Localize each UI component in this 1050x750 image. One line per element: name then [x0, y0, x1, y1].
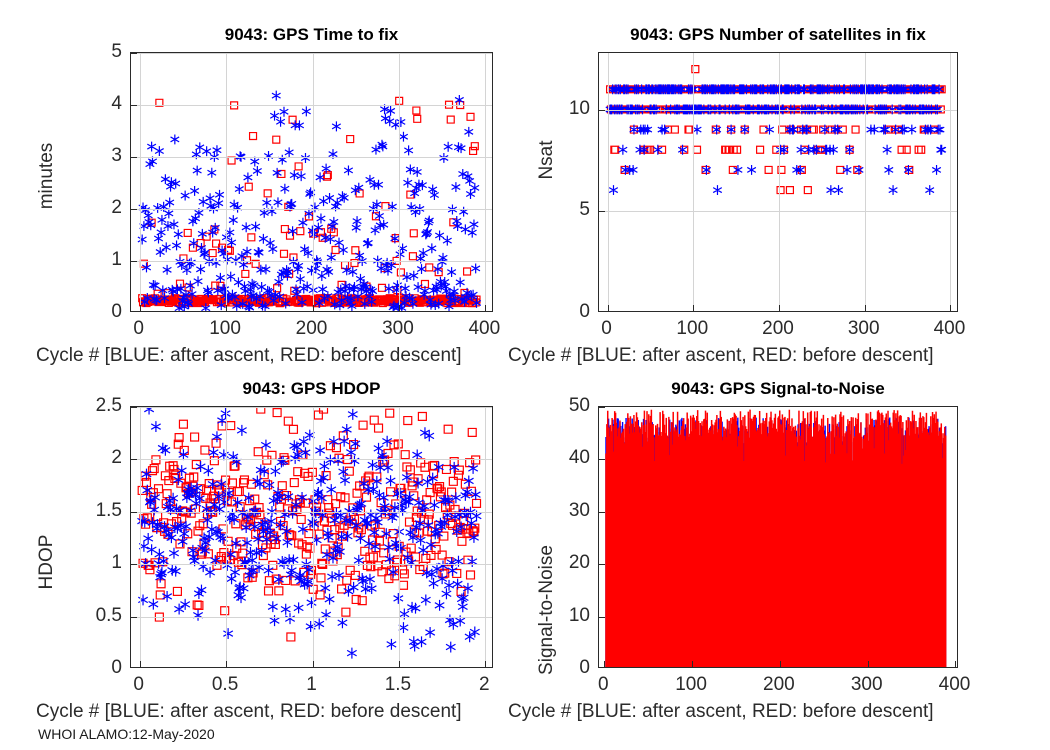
y-tick-label: 2	[62, 197, 122, 219]
x-tick-label: 0.5	[212, 674, 238, 696]
gridline-horizontal	[131, 105, 492, 106]
x-tick-label: 300	[848, 318, 880, 340]
y-tick	[599, 110, 605, 111]
y-tick-label: 0.5	[62, 605, 122, 627]
gridline-vertical	[140, 53, 141, 311]
y-tick-label: 40	[530, 447, 590, 469]
y-tick-label: 1	[62, 249, 122, 271]
y-tick	[131, 209, 137, 210]
x-tick-label: 100	[209, 318, 241, 340]
y-tick-label: 30	[530, 500, 590, 522]
y-tick	[131, 53, 137, 54]
x-tick	[779, 305, 780, 311]
y-tick-label: 4	[62, 93, 122, 115]
plot-title-time-to-fix: 9043: GPS Time to fix	[130, 25, 493, 45]
y-tick	[131, 105, 137, 106]
x-tick	[780, 661, 781, 667]
x-tick	[226, 305, 227, 311]
y-tick	[131, 261, 137, 262]
subplot-hdop: 9043: GPS HDOP 00.511.5200.511.522.5	[130, 406, 493, 668]
y-tick	[131, 617, 137, 618]
y-tick-label: 50	[530, 395, 590, 417]
x-tick-label: 100	[675, 674, 707, 696]
gridline-vertical	[485, 407, 486, 667]
y-tick-label: 10	[530, 98, 590, 120]
y-tick-label: 3	[62, 145, 122, 167]
xlabel-hdop: Cycle # [BLUE: after ascent, RED: before…	[36, 701, 462, 723]
y-tick-label: 2.5	[62, 395, 122, 417]
gridline-horizontal	[599, 211, 957, 212]
axes-time-to-fix	[130, 52, 493, 312]
gridline-horizontal	[131, 261, 492, 262]
gridline-horizontal	[131, 407, 492, 408]
x-tick-label: 2	[479, 674, 490, 696]
data-layer-hdop	[131, 407, 492, 667]
y-tick-label: 1.5	[62, 500, 122, 522]
x-tick	[868, 661, 869, 667]
y-tick-label: 0	[62, 301, 122, 323]
y-tick	[599, 407, 605, 408]
y-tick-label: 5	[62, 41, 122, 63]
gridline-horizontal	[131, 617, 492, 618]
y-tick	[599, 459, 605, 460]
xlabel-time-to-fix: Cycle # [BLUE: after ascent, RED: before…	[36, 345, 462, 367]
ylabel-minutes: minutes	[36, 143, 58, 210]
x-tick-label: 1.5	[385, 674, 411, 696]
y-tick-label: 0	[62, 657, 122, 679]
gridline-horizontal	[131, 157, 492, 158]
x-tick	[955, 661, 956, 667]
x-tick	[693, 305, 694, 311]
xlabel-snr: Cycle # [BLUE: after ascent, RED: before…	[508, 701, 934, 723]
gridline-horizontal	[599, 110, 957, 111]
gridline-vertical	[313, 407, 314, 667]
axes-snr	[598, 406, 958, 668]
x-tick	[226, 661, 227, 667]
x-tick	[485, 661, 486, 667]
x-tick-label: 400	[468, 318, 500, 340]
x-tick	[485, 305, 486, 311]
x-tick-label: 200	[296, 318, 328, 340]
x-tick-label: 400	[939, 674, 971, 696]
gridline-vertical	[693, 53, 694, 311]
footer-stamp: WHOI ALAMO:12-May-2020	[38, 726, 215, 742]
x-tick	[313, 305, 314, 311]
x-tick	[692, 661, 693, 667]
gridline-horizontal	[131, 564, 492, 565]
y-tick-label: 1	[62, 552, 122, 574]
y-tick	[131, 512, 137, 513]
x-tick-label: 200	[763, 674, 795, 696]
matlab-figure: 9043: GPS Time to fix 010020030040001234…	[0, 0, 1050, 750]
x-tick	[608, 305, 609, 311]
gridline-horizontal	[131, 512, 492, 513]
y-tick	[131, 407, 137, 408]
gridline-vertical	[485, 53, 486, 311]
gridline-vertical	[140, 407, 141, 667]
data-layer-nsat	[599, 53, 957, 311]
marker-asterisk-group	[606, 84, 946, 195]
gridline-vertical	[865, 53, 866, 311]
x-tick	[399, 661, 400, 667]
bar-group	[606, 410, 946, 667]
gridline-vertical	[779, 53, 780, 311]
data-layer-time-to-fix	[131, 53, 492, 311]
gridline-vertical	[399, 53, 400, 311]
y-tick-label: 5	[530, 199, 590, 221]
x-tick	[140, 305, 141, 311]
gridline-vertical	[226, 53, 227, 311]
gridline-horizontal	[131, 459, 492, 460]
plot-title-snr: 9043: GPS Signal-to-Noise	[598, 379, 958, 399]
x-tick-label: 1	[306, 674, 317, 696]
y-tick	[131, 459, 137, 460]
x-tick-label: 100	[676, 318, 708, 340]
subplot-snr: 9043: GPS Signal-to-Noise 01002003004000…	[598, 406, 958, 668]
x-tick-label: 300	[851, 674, 883, 696]
x-tick-label: 0	[133, 318, 144, 340]
marker-asterisk-group	[137, 407, 481, 659]
y-tick	[131, 157, 137, 158]
x-tick-label: 400	[934, 318, 966, 340]
axes-hdop	[130, 406, 493, 668]
gridline-vertical	[608, 53, 609, 311]
x-tick-label: 0	[598, 674, 609, 696]
xlabel-nsat: Cycle # [BLUE: after ascent, RED: before…	[508, 345, 934, 367]
marker-asterisk-group	[138, 91, 481, 311]
x-tick	[865, 305, 866, 311]
x-tick	[140, 661, 141, 667]
x-tick	[950, 305, 951, 311]
plot-title-nsat: 9043: GPS Number of satellites in fix	[598, 25, 958, 45]
y-tick-label: 2	[62, 447, 122, 469]
x-tick-label: 200	[762, 318, 794, 340]
x-tick	[604, 661, 605, 667]
x-tick	[313, 661, 314, 667]
gridline-horizontal	[131, 53, 492, 54]
y-tick	[599, 211, 605, 212]
gridline-vertical	[313, 53, 314, 311]
marker-square-group	[139, 97, 480, 306]
x-tick-label: 300	[382, 318, 414, 340]
gridline-horizontal	[131, 209, 492, 210]
x-tick	[399, 305, 400, 311]
gridline-vertical	[950, 53, 951, 311]
data-layer-snr	[599, 407, 957, 667]
x-tick-label: 0	[601, 318, 612, 340]
ylabel-hdop: HDOP	[36, 535, 58, 590]
gridline-vertical	[399, 407, 400, 667]
gridline-vertical	[226, 407, 227, 667]
axes-nsat	[598, 52, 958, 312]
y-tick	[599, 564, 605, 565]
ylabel-snr: Signal-to-Noise	[536, 545, 558, 675]
y-tick	[131, 564, 137, 565]
y-tick-label: 0	[530, 301, 590, 323]
subplot-time-to-fix: 9043: GPS Time to fix 010020030040001234…	[130, 52, 493, 312]
y-tick	[599, 617, 605, 618]
ylabel-nsat: Nsat	[536, 140, 558, 179]
subplot-nsat: 9043: GPS Number of satellites in fix 01…	[598, 52, 958, 312]
x-tick-label: 0	[133, 674, 144, 696]
plot-title-hdop: 9043: GPS HDOP	[130, 379, 493, 399]
y-tick	[599, 512, 605, 513]
